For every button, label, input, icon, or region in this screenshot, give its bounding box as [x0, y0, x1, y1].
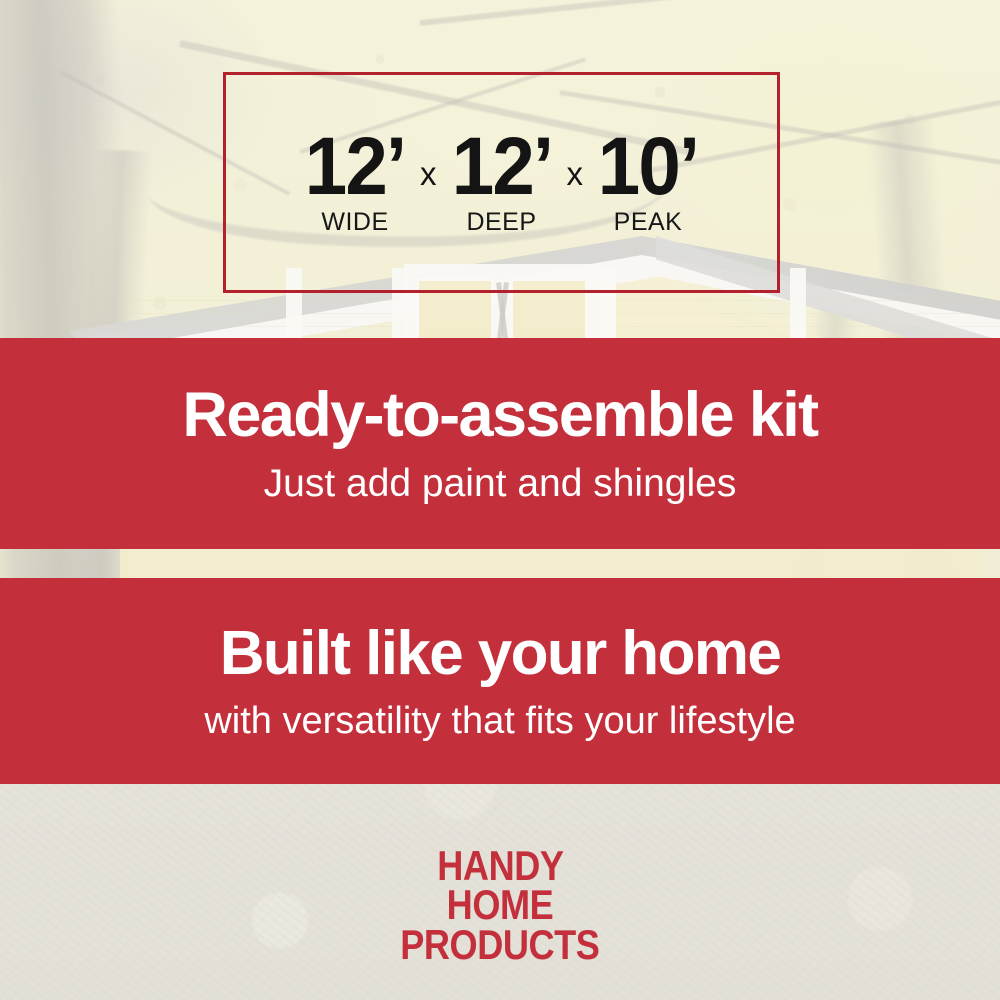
- dimension-wide: 12’ WIDE: [301, 133, 409, 237]
- dimension-peak-value: 10’: [598, 133, 698, 202]
- dimension-peak-label: PEAK: [614, 208, 683, 237]
- dimension-deep: 12’ DEEP: [448, 133, 556, 237]
- logo-line-handy: HANDY: [437, 846, 563, 885]
- logo-line-home: HOME: [447, 885, 554, 924]
- logo-line-products: PRODUCTS: [400, 925, 599, 964]
- brand-logo: HANDY HOME PRODUCTS: [0, 846, 1000, 964]
- dimension-deep-value: 12’: [451, 133, 551, 202]
- dimension-separator-1: x: [420, 155, 437, 193]
- dimension-peak: 10’ PEAK: [594, 133, 702, 237]
- dimension-callout-box: 12’ WIDE x 12’ DEEP x 10’ PEAK: [223, 72, 780, 293]
- dimension-wide-value: 12’: [305, 133, 405, 202]
- dimension-deep-label: DEEP: [466, 208, 536, 237]
- dimension-row: 12’ WIDE x 12’ DEEP x 10’ PEAK: [226, 133, 777, 237]
- banner-two-heading: Built like your home: [220, 623, 781, 685]
- feature-banner-ready-to-assemble: Ready-to-assemble kit Just add paint and…: [0, 338, 1000, 549]
- banner-two-subheading: with versatility that fits your lifestyl…: [204, 702, 795, 740]
- marketing-graphic: 12’ WIDE x 12’ DEEP x 10’ PEAK Ready-to-…: [0, 0, 1000, 1000]
- banner-one-heading: Ready-to-assemble kit: [182, 384, 817, 447]
- banner-one-subheading: Just add paint and shingles: [264, 464, 737, 503]
- dimension-separator-2: x: [567, 155, 584, 193]
- feature-banner-built-like-your-home: Built like your home with versatility th…: [0, 578, 1000, 784]
- dimension-wide-label: WIDE: [321, 208, 388, 237]
